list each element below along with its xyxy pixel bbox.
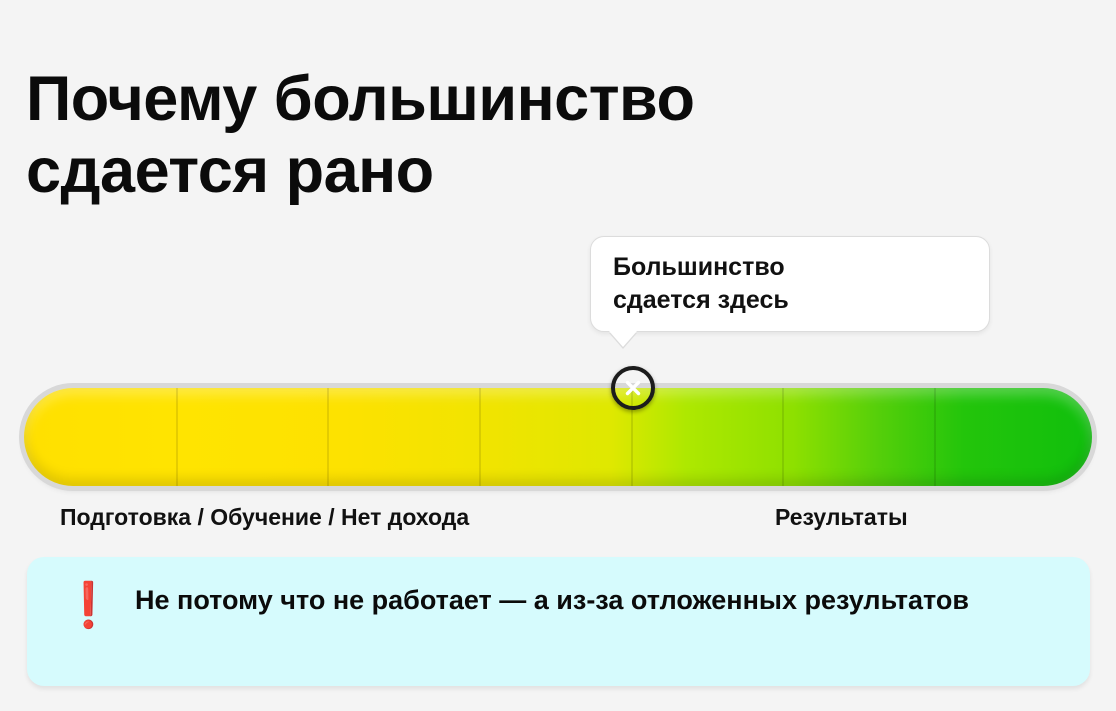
note-box: ❗ Не потому что не работает — а из-за от…: [27, 557, 1090, 686]
segment-divider: [934, 388, 936, 486]
page-title: Почему большинство сдается рано: [26, 64, 986, 208]
axis-label-left: Подготовка / Обучение / Нет дохода: [60, 504, 469, 531]
note-text: Не потому что не работает — а из-за отло…: [135, 582, 1035, 618]
gradient-progress-bar[interactable]: [24, 388, 1092, 486]
infographic-page: Почему большинство сдается рано Большинс…: [0, 0, 1116, 711]
tooltip-tail: [609, 331, 637, 347]
segment-divider: [782, 388, 784, 486]
tooltip-text: Большинство сдается здесь: [613, 251, 973, 317]
progress-bar-wrapper: [24, 388, 1092, 486]
close-x-icon: [622, 377, 644, 399]
tooltip-bubble: Большинство сдается здесь: [590, 236, 990, 332]
segment-divider: [176, 388, 178, 486]
segment-dividers: [24, 388, 1092, 486]
segment-divider: [479, 388, 481, 486]
axis-label-right: Результаты: [775, 504, 908, 531]
segment-divider: [327, 388, 329, 486]
giveup-marker[interactable]: [611, 366, 655, 410]
exclamation-mark-emoji-icon: ❗: [61, 584, 116, 628]
